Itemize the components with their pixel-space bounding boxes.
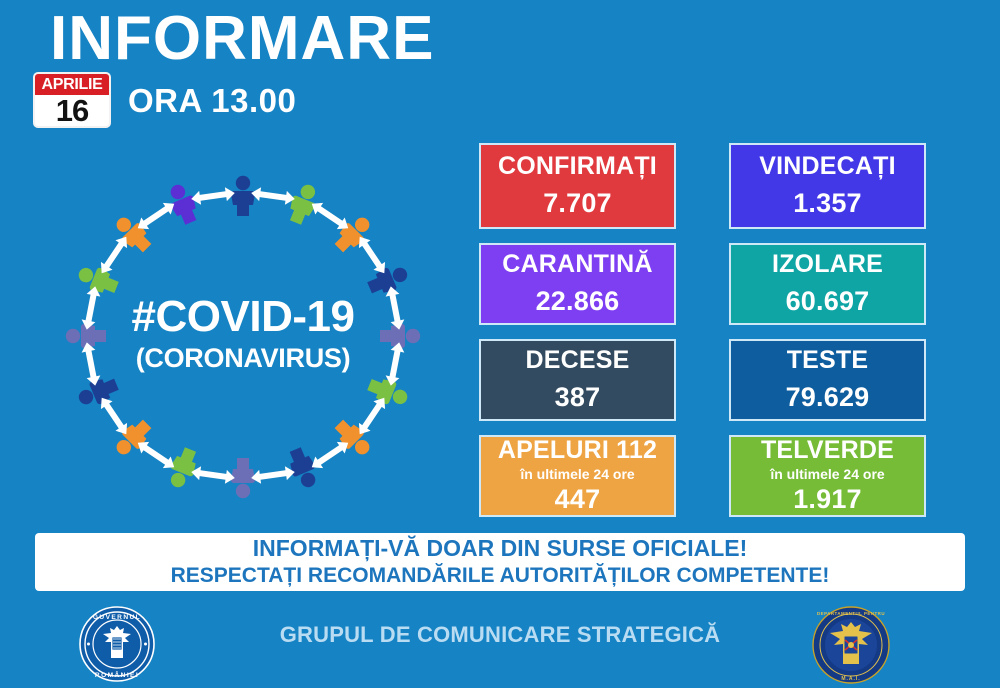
stat-label-apeluri-112: APELURI 112	[498, 437, 657, 465]
stat-value-telverde: 1.917	[793, 484, 862, 515]
stat-value-carantina: 22.866	[536, 286, 620, 317]
stat-box-izolare: IZOLARE 60.697	[729, 243, 926, 325]
calendar-day-label: 16	[35, 95, 109, 126]
page-title: INFORMARE	[50, 4, 434, 73]
calendar-icon: APRILIE 16	[33, 72, 111, 128]
stat-value-vindecati: 1.357	[793, 188, 862, 219]
stat-label-decese: DECESE	[525, 347, 629, 375]
svg-text:ROMÂNIEI: ROMÂNIEI	[95, 670, 139, 679]
stat-label-telverde: TELVERDE	[761, 437, 894, 465]
stat-value-decese: 387	[555, 382, 601, 413]
stat-value-apeluri-112: 447	[555, 484, 601, 515]
stat-box-apeluri-112: APELURI 112 în ultimele 24 ore 447	[479, 435, 676, 517]
calendar-month-label: APRILIE	[35, 74, 109, 95]
advisory-line-1: INFORMAȚI-VĂ DOAR DIN SURSE OFICIALE!	[253, 536, 748, 561]
stat-box-vindecati: VINDECAȚI 1.357	[729, 143, 926, 229]
stat-label-izolare: IZOLARE	[772, 251, 883, 279]
stat-box-confirmati: CONFIRMAȚI 7.707	[479, 143, 676, 229]
stat-label-teste: TESTE	[787, 347, 869, 375]
svg-text:M.A.I.: M.A.I.	[841, 676, 860, 682]
svg-text:GUVERNUL: GUVERNUL	[93, 614, 141, 621]
advisory-banner: INFORMAȚI-VĂ DOAR DIN SURSE OFICIALE! RE…	[35, 533, 965, 591]
stat-label-carantina: CARANTINĂ	[502, 251, 652, 279]
stat-box-carantina: CARANTINĂ 22.866	[479, 243, 676, 325]
svg-text:DEPARTAMENTUL PENTRU: DEPARTAMENTUL PENTRU	[817, 611, 885, 616]
stat-value-confirmati: 7.707	[543, 188, 612, 219]
stat-sub-apeluri-112: în ultimele 24 ore	[520, 466, 634, 482]
stat-box-teste: TESTE 79.629	[729, 339, 926, 421]
covid-informare-poster: INFORMARE APRILIE 16 ORA 13.00	[0, 0, 1000, 688]
report-hour: ORA 13.00	[128, 82, 296, 120]
stat-box-decese: DECESE 387	[479, 339, 676, 421]
advisory-line-2: RESPECTAȚI RECOMANDĂRILE AUTORITĂȚILOR C…	[171, 564, 830, 588]
stat-box-telverde: TELVERDE în ultimele 24 ore 1.917	[729, 435, 926, 517]
stat-value-teste: 79.629	[786, 382, 870, 413]
stat-label-confirmati: CONFIRMAȚI	[498, 153, 657, 181]
covid-circle-graphic	[38, 168, 448, 508]
stat-sub-telverde: în ultimele 24 ore	[770, 466, 884, 482]
departamentul-situatii-urgenta-seal-icon: DEPARTAMENTUL PENTRU M.A.I.	[812, 606, 890, 684]
person-figures	[66, 176, 420, 498]
stat-value-izolare: 60.697	[786, 286, 870, 317]
stat-label-vindecati: VINDECAȚI	[759, 153, 896, 181]
